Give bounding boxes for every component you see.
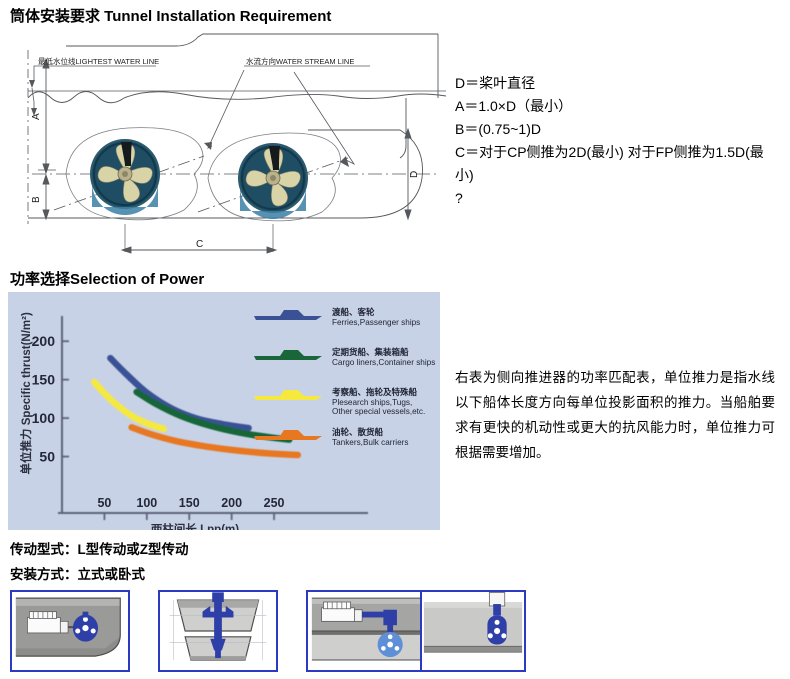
thruster-icon [378,632,403,657]
spec-line-a: A＝1.0×D（最小） [455,95,780,118]
legend-label-cn-4: 油轮、散货船 [332,427,384,437]
legend-label-en-3: Plesearch ships,Tugs, [332,398,412,407]
legend-label-cn-1: 渡船、客轮 [332,307,375,317]
chart-x-tick-label: 200 [221,496,242,510]
chart-x-tick-label: 100 [136,496,157,510]
chart-y-tick-label: 100 [32,410,56,426]
dim-label-a: A [31,113,42,120]
label-water-stream-line: 水流方向WATER STREAM LINE [246,56,354,66]
mounting-type-line: 安装方式：立式或卧式 [10,563,145,583]
thumbnail-engine-above-tunnel [306,590,426,672]
label-lightest-water-line: 最低水位线LIGHTEST WATER LINE [38,56,159,66]
dim-label-b: B [31,196,42,203]
document-page: 筒体安装要求 Tunnel Installation Requirement [0,0,790,679]
chart-y-tick-label: 50 [39,449,55,465]
spec-line-c: C＝对于CP侧推为2D(最小) 对于FP侧推为1.5D(最小) [455,141,780,187]
chart-y-tick-label: 200 [32,333,56,349]
spec-line-question: ? [455,187,780,210]
dim-label-c: C [196,239,203,250]
drive-type-line: 传动型式：L型传动或Z型传动 [10,538,189,558]
specific-thrust-chart: 5010015020050100150200250 渡船、客轮Ferries,P… [8,292,440,530]
legend-label-en-4: Tankers,Bulk carriers [332,438,408,447]
chart-x-tick-label: 150 [179,496,200,510]
legend-label-en-3: Other special vessels,etc. [332,407,425,416]
legend-label-cn-3: 考察船、拖轮及特殊船 [332,387,418,397]
chart-x-tick-label: 50 [97,496,111,510]
thumbnail-vertical-mount-section [420,590,526,672]
spec-line-d: D＝桨叶直径 [455,72,780,95]
chart-y-axis-title: 单位推力 Specific thrust(N/m²) [19,312,33,474]
thumbnail-horizontal-engine-drive [10,590,130,672]
tunnel-spec-list: D＝桨叶直径 A＝1.0×D（最小） B＝(0.75~1)D C＝对于CP侧推为… [455,72,780,210]
dim-label-d: D [409,171,420,178]
vertical-thruster-icon [487,593,506,645]
chart-y-tick-label: 150 [32,372,56,388]
chart-x-tick-label: 250 [264,496,285,510]
installation-thumbnail-row [10,590,530,674]
legend-label-cn-2: 定期货船、集装箱船 [331,347,409,357]
spec-line-b: B＝(0.75~1)D [455,118,780,141]
page-title-tunnel-installation: 筒体安装要求 Tunnel Installation Requirement [10,5,331,26]
legend-label-en-1: Ferries,Passenger ships [332,318,420,327]
power-selection-note: 右表为侧向推进器的功率匹配表，单位推力是指水线以下船体长度方向每单位投影面积的推… [455,365,775,465]
page-title-selection-of-power: 功率选择Selection of Power [10,268,204,289]
chart-x-axis-title: 两柱间长 Lpp(m) [151,522,239,530]
thumbnail-vertical-l-drive [158,590,278,672]
legend-label-en-2: Cargo liners,Container ships [332,358,435,367]
tunnel-installation-drawing: 最低水位线LIGHTEST WATER LINE 水流方向WATER STREA… [8,28,448,260]
